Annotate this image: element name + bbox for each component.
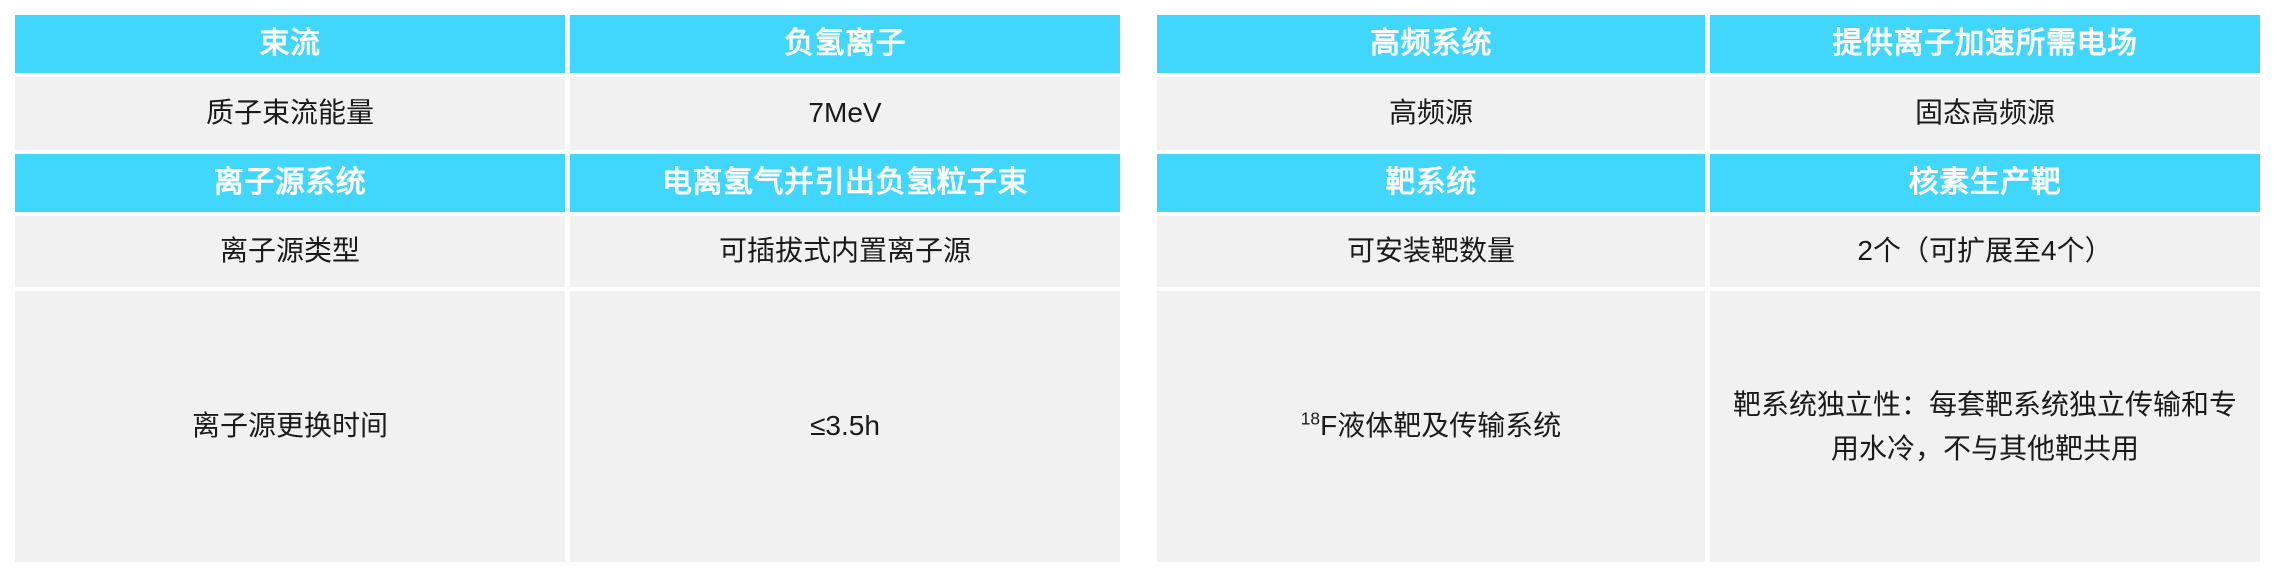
row-value: 固态高频源: [1720, 93, 2250, 134]
spec-tables-page: 束流 负氢离子 质子束流能量 7MeV 离子源系统 电离氢气并引出负氢粒子束 离…: [0, 0, 2274, 576]
table-header-cell: 电离氢气并引出负氢粒子束: [570, 154, 1120, 212]
table-row-label: 可安装靶数量: [1157, 216, 1705, 287]
row-value: 可插拔式内置离子源: [580, 231, 1110, 272]
header-label: 靶系统: [1167, 161, 1695, 205]
table-row-value: 可插拔式内置离子源: [570, 216, 1120, 287]
table-row-value: 固态高频源: [1710, 77, 2260, 150]
header-label: 束流: [25, 22, 555, 66]
row-value: 2个（可扩展至4个）: [1720, 231, 2250, 272]
row-label: 可安装靶数量: [1167, 231, 1695, 272]
header-label: 电离氢气并引出负氢粒子束: [580, 161, 1110, 205]
table-row-value: 7MeV: [570, 77, 1120, 150]
table-row-label-isotope: 18F液体靶及传输系统: [1157, 291, 1705, 562]
table-row-label: 离子源更换时间: [15, 291, 565, 562]
header-label: 提供离子加速所需电场: [1720, 22, 2250, 66]
table-header-cell: 靶系统: [1157, 154, 1705, 212]
table-header-cell: 高频系统: [1157, 15, 1705, 73]
row-label-isotope: 18F液体靶及传输系统: [1167, 406, 1695, 447]
table-row-value: ≤3.5h: [570, 291, 1120, 562]
table-row-label: 离子源类型: [15, 216, 565, 287]
row-label: 高频源: [1167, 93, 1695, 134]
table-header-cell: 离子源系统: [15, 154, 565, 212]
row-value: 7MeV: [580, 93, 1110, 134]
table-row-label: 高频源: [1157, 77, 1705, 150]
header-label: 离子源系统: [25, 161, 555, 205]
table-header-cell: 核素生产靶: [1710, 154, 2260, 212]
table-row-value: 2个（可扩展至4个）: [1710, 216, 2260, 287]
isotope-superscript: 18: [1301, 409, 1320, 429]
header-label: 负氢离子: [580, 22, 1110, 66]
rf-system-and-target-system-table: 高频系统 提供离子加速所需电场 高频源 固态高频源 靶系统 核素生产靶 可安装靶…: [1157, 15, 2260, 562]
header-label: 高频系统: [1167, 22, 1695, 66]
table-row-label: 质子束流能量: [15, 77, 565, 150]
row-value: 靶系统独立性：每套靶系统独立传输和专用水冷，不与其他靶共用: [1720, 383, 2250, 470]
accelerator-beam-and-ion-source-table: 束流 负氢离子 质子束流能量 7MeV 离子源系统 电离氢气并引出负氢粒子束 离…: [15, 15, 1120, 562]
row-value: ≤3.5h: [580, 406, 1110, 447]
table-row-value: 靶系统独立性：每套靶系统独立传输和专用水冷，不与其他靶共用: [1710, 291, 2260, 562]
row-label: 质子束流能量: [25, 93, 555, 134]
table-header-cell: 束流: [15, 15, 565, 73]
table-header-cell: 提供离子加速所需电场: [1710, 15, 2260, 73]
row-label: 离子源类型: [25, 231, 555, 272]
header-label: 核素生产靶: [1720, 161, 2250, 205]
row-label: 离子源更换时间: [25, 406, 555, 447]
table-header-cell: 负氢离子: [570, 15, 1120, 73]
